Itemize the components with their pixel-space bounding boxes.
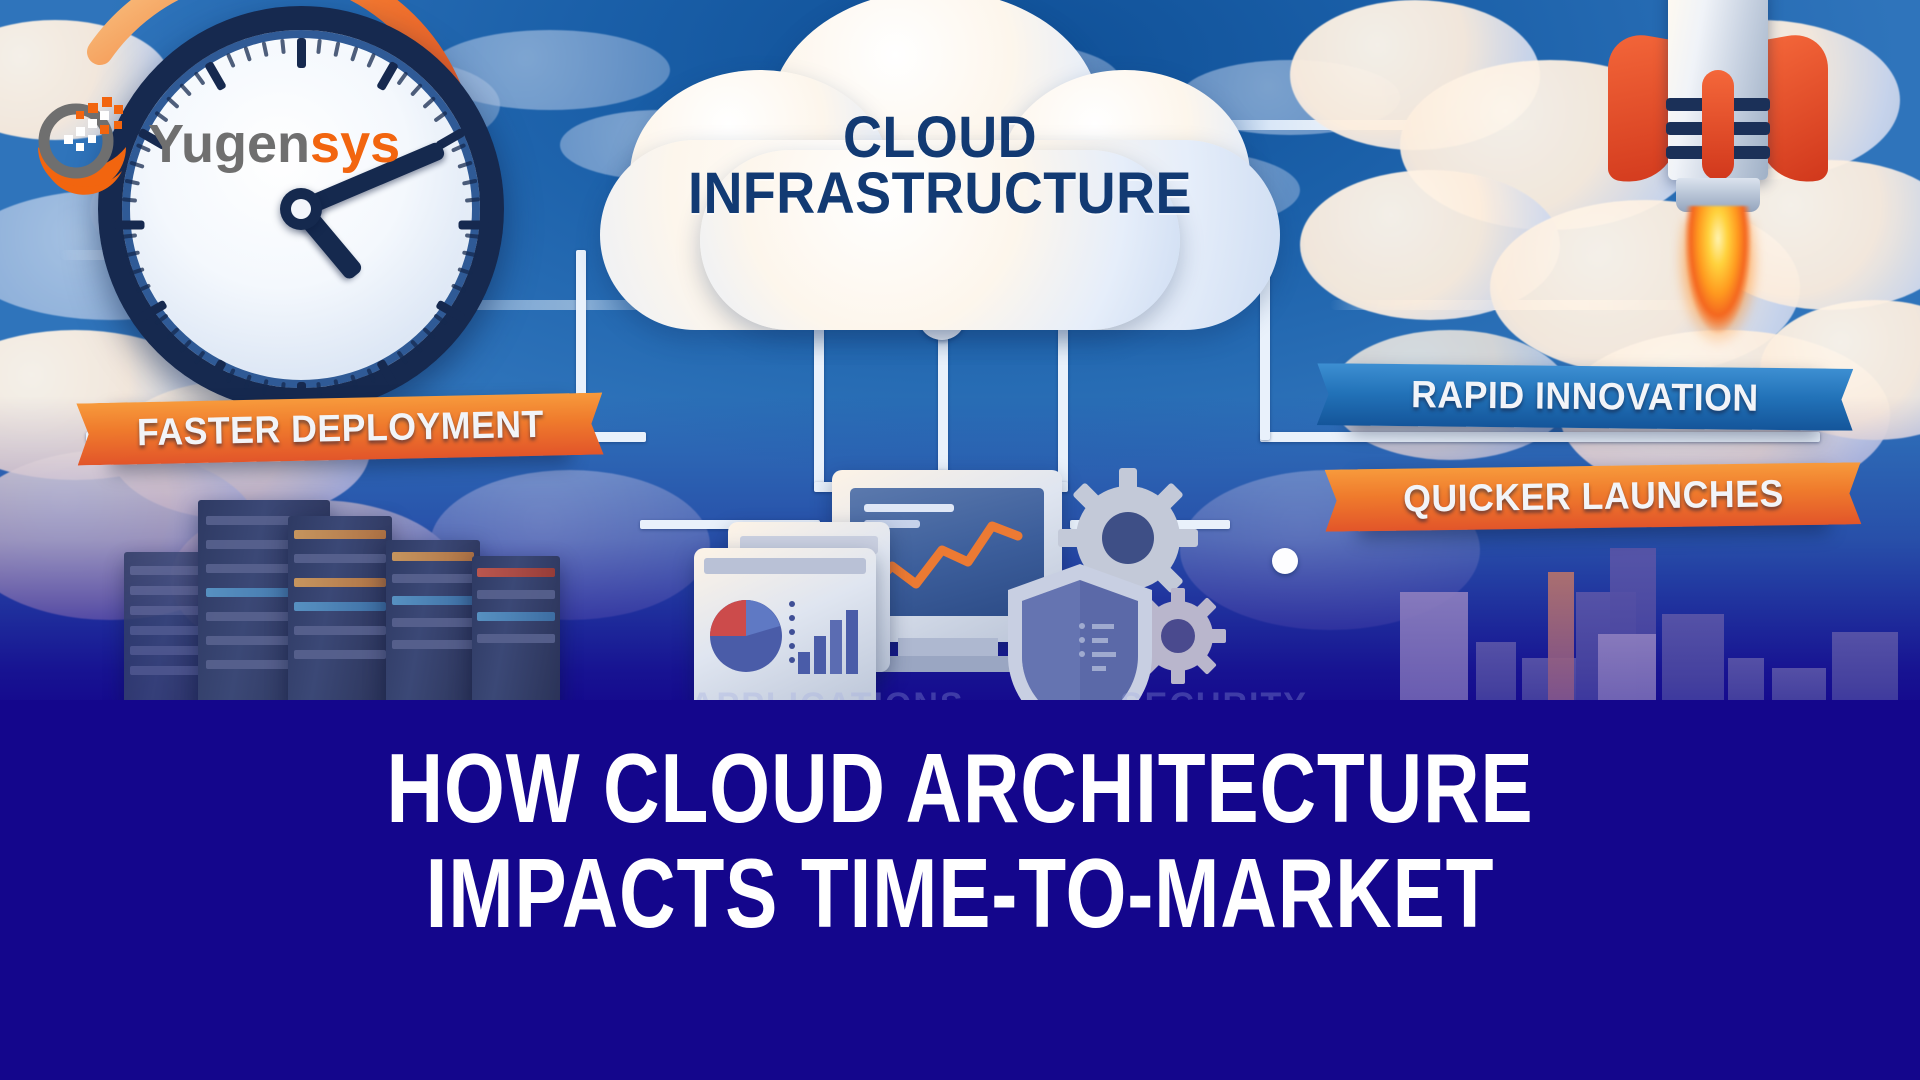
- ribbon-label: QUICKER LAUNCHES: [1402, 473, 1783, 521]
- cloud-blob: [1290, 0, 1540, 150]
- connector-line: [1260, 432, 1820, 442]
- logo-name-part1: Yugen: [148, 114, 310, 174]
- ribbon-faster-deployment: FASTER DEPLOYMENT: [109, 393, 570, 465]
- cloud-label: CLOUD INFRASTRUCTURE: [600, 110, 1280, 221]
- ribbon-rapid-innovation: RAPID INNOVATION: [1350, 364, 1821, 431]
- logo-name-part2: sys: [310, 114, 400, 174]
- hero-banner: CLOUD INFRASTRUCTURE: [0, 0, 1920, 1080]
- yugensys-logo[interactable]: Yugensys: [30, 95, 360, 205]
- ribbon-label: RAPID INNOVATION: [1411, 374, 1759, 421]
- yugensys-pixel-swoosh-icon: [30, 95, 150, 200]
- city-skyline-icon: [1380, 520, 1920, 720]
- logo-wordmark: Yugensys: [148, 117, 400, 171]
- ribbon-quicker-launches: QUICKER LAUNCHES: [1358, 463, 1829, 532]
- connector-node: [1272, 548, 1298, 574]
- clock-icon: [98, 6, 504, 412]
- title-band: HOW CLOUD ARCHITECTURE IMPACTS TIME-TO-M…: [0, 700, 1920, 1080]
- ribbon-label: FASTER DEPLOYMENT: [136, 403, 544, 455]
- title-line-1: HOW CLOUD ARCHITECTURE: [192, 736, 1728, 841]
- cloud-blob: [1300, 170, 1560, 320]
- title-line-2: IMPACTS TIME-TO-MARKET: [192, 841, 1728, 946]
- rocket-icon: [1598, 0, 1838, 310]
- cloud-icon: CLOUD INFRASTRUCTURE: [600, 0, 1280, 350]
- cloud-label-line1: CLOUD: [624, 110, 1256, 166]
- page-title: HOW CLOUD ARCHITECTURE IMPACTS TIME-TO-M…: [0, 736, 1920, 946]
- cloud-label-line2: INFRASTRUCTURE: [624, 166, 1256, 222]
